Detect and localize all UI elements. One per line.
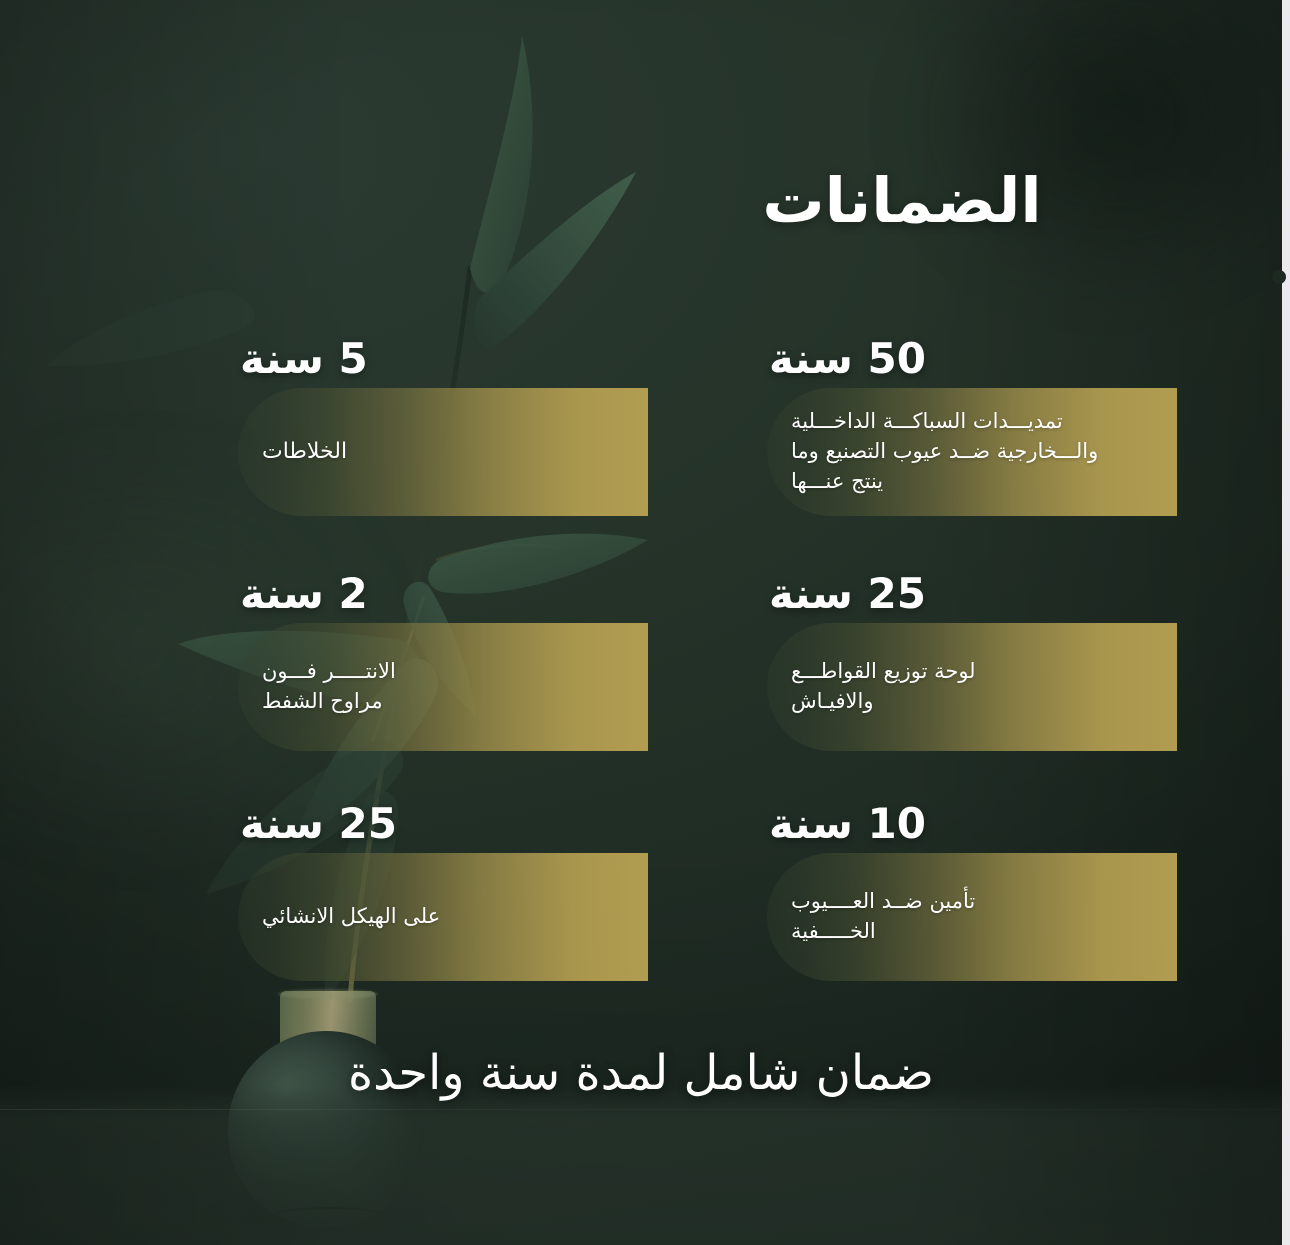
guarantee-pill[interactable]: تأمين ضــد العــــيوب الخـــــفية [767,853,1177,981]
slide-viewport: الضمانات 50 سنة تمديـــدات السباكـــة ال… [0,0,1290,1245]
guarantee-years-label: 5 سنة [238,335,648,382]
slide-edge-handle[interactable] [1272,270,1286,284]
guarantee-years-label: 25 سنة [238,800,648,847]
presentation-slide[interactable]: الضمانات 50 سنة تمديـــدات السباكـــة ال… [0,0,1282,1245]
guarantee-item-structure[interactable]: 25 سنة على الهيكل الانشائي [238,800,648,981]
guarantee-pill[interactable]: تمديـــدات السباكـــة الداخـــلية والـــ… [767,388,1177,516]
guarantee-years-label: 10 سنة [767,800,1177,847]
guarantee-item-plumbing[interactable]: 50 سنة تمديـــدات السباكـــة الداخـــلية… [767,335,1177,516]
guarantee-years-label: 50 سنة [767,335,1177,382]
guarantee-description: الانتـــــر فـــون مراوح الشفط [238,657,648,717]
guarantee-description: تأمين ضــد العــــيوب الخـــــفية [767,887,1177,947]
slide-content: الضمانات 50 سنة تمديـــدات السباكـــة ال… [0,0,1282,1245]
guarantee-item-intercom-fans[interactable]: 2 سنة الانتـــــر فـــون مراوح الشفط [238,570,648,751]
footer-note: ضمان شامل لمدة سنة واحدة [0,1045,1282,1101]
guarantee-item-mixers[interactable]: 5 سنة الخلاطات [238,335,648,516]
guarantee-item-breaker-panel[interactable]: 25 سنة لوحة توزيع القواطـــع والافيـاش [767,570,1177,751]
guarantee-description: على الهيكل الانشائي [238,902,648,932]
guarantee-years-label: 2 سنة [238,570,648,617]
guarantee-item-hidden-defects[interactable]: 10 سنة تأمين ضــد العــــيوب الخـــــفية [767,800,1177,981]
guarantee-pill[interactable]: لوحة توزيع القواطـــع والافيـاش [767,623,1177,751]
guarantee-description: لوحة توزيع القواطـــع والافيـاش [767,657,1177,717]
scrollbar-rail[interactable] [1282,0,1290,1245]
guarantee-description: تمديـــدات السباكـــة الداخـــلية والـــ… [767,407,1177,496]
guarantee-pill[interactable]: الانتـــــر فـــون مراوح الشفط [238,623,648,751]
guarantee-pill[interactable]: على الهيكل الانشائي [238,853,648,981]
guarantee-description: الخلاطات [238,436,648,467]
guarantee-pill[interactable]: الخلاطات [238,388,648,516]
guarantee-years-label: 25 سنة [767,570,1177,617]
